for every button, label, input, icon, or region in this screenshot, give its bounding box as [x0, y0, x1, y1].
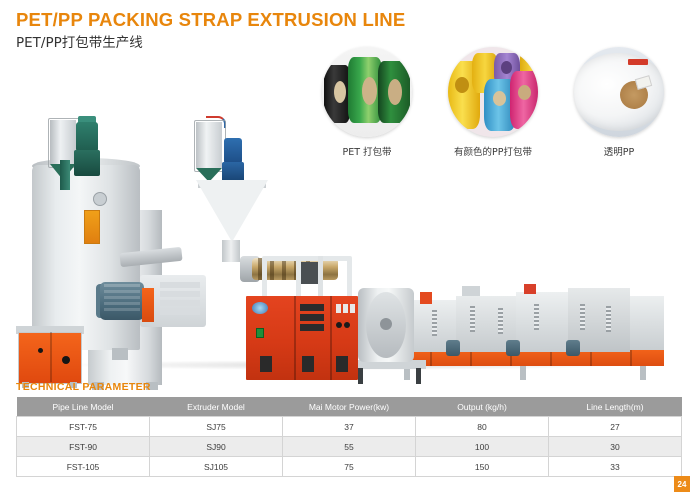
table-header-row: Pipe Line Model Extruder Model Mai Motor… — [17, 397, 682, 417]
column-header-line-length: Line Length(m) — [549, 397, 682, 417]
cell-output: 150 — [416, 457, 549, 477]
table-row: FST-90 SJ90 55 100 30 — [17, 437, 682, 457]
cell-output: 80 — [416, 417, 549, 437]
cell-main-motor-power: 55 — [283, 437, 416, 457]
cell-pipe-line-model: FST-90 — [17, 437, 150, 457]
cell-extruder-model: SJ90 — [150, 437, 283, 457]
table-row: FST-75 SJ75 37 80 27 — [17, 417, 682, 437]
table-row: FST-105 SJ105 75 150 33 — [17, 457, 682, 477]
column-header-main-motor-power: Mai Motor Power(kw) — [283, 397, 416, 417]
cell-line-length: 33 — [549, 457, 682, 477]
cell-line-length: 27 — [549, 417, 682, 437]
page-number-badge: 24 — [674, 476, 690, 492]
column-header-pipe-line-model: Pipe Line Model — [17, 397, 150, 417]
cell-output: 100 — [416, 437, 549, 457]
column-header-extruder-model: Extruder Model — [150, 397, 283, 417]
cell-main-motor-power: 75 — [283, 457, 416, 477]
cell-pipe-line-model: FST-75 — [17, 417, 150, 437]
cell-extruder-model: SJ105 — [150, 457, 283, 477]
page-title: PET/PP PACKING STRAP EXTRUSION LINE — [16, 10, 405, 30]
machine-photo — [0, 60, 698, 380]
technical-parameter-table: Pipe Line Model Extruder Model Mai Motor… — [16, 397, 682, 477]
page-header: PET/PP PACKING STRAP EXTRUSION LINE PET/… — [16, 10, 405, 51]
cell-pipe-line-model: FST-105 — [17, 457, 150, 477]
column-header-output: Output (kg/h) — [416, 397, 549, 417]
technical-parameter-heading: TECHNICAL PARAMETER — [16, 381, 151, 393]
cell-main-motor-power: 37 — [283, 417, 416, 437]
cell-extruder-model: SJ75 — [150, 417, 283, 437]
cell-line-length: 30 — [549, 437, 682, 457]
brochure-page: PET/PP PACKING STRAP EXTRUSION LINE PET/… — [0, 0, 698, 498]
